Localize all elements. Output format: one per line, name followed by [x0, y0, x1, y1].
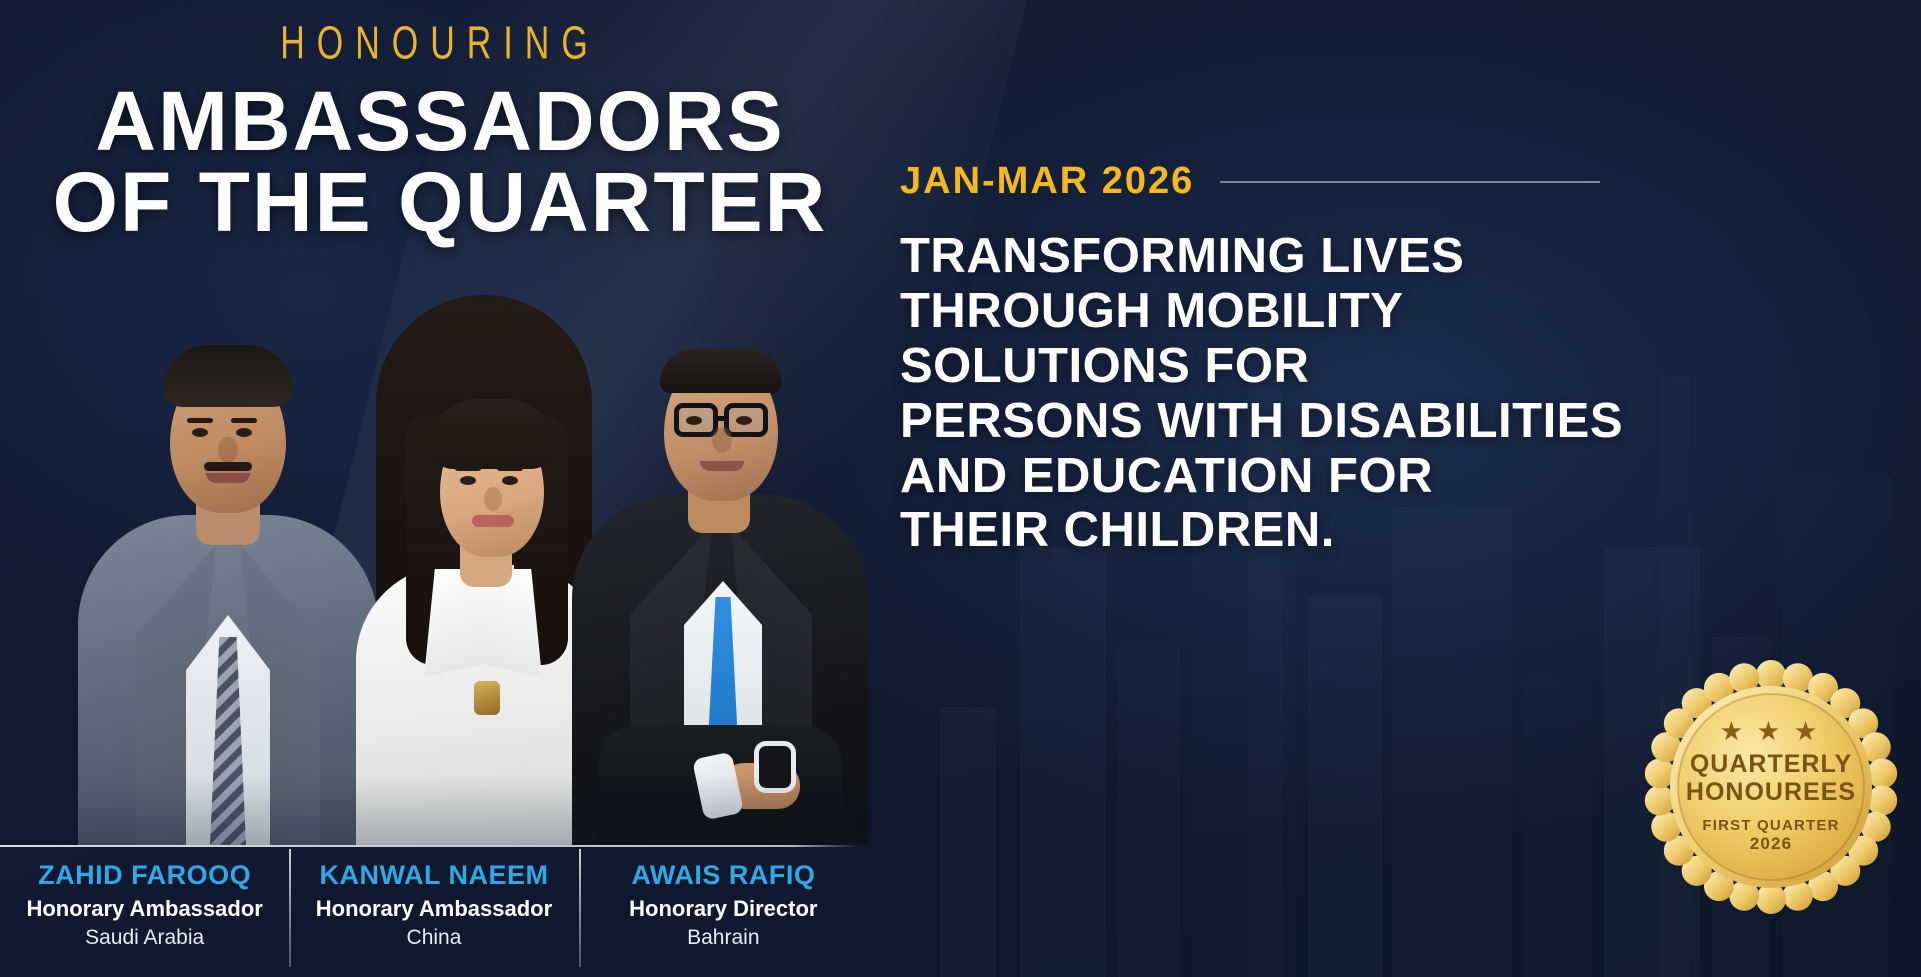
- headline-line-5: AND EDUCATION FOR: [900, 449, 1860, 504]
- honouree-country: China: [289, 924, 578, 951]
- honourees-name-strip: ZAHID FAROOQ Honorary Ambassador Saudi A…: [0, 845, 868, 977]
- title-line-1: AMBASSADORS: [0, 83, 880, 160]
- honouree-role: Honorary Ambassador: [0, 895, 289, 924]
- title-block: HONOURING AMBASSADORS OF THE QUARTER: [0, 18, 880, 242]
- honouree-card-1: ZAHID FAROOQ Honorary Ambassador Saudi A…: [0, 845, 289, 952]
- honouree-card-3: AWAIS RAFIQ Honorary Director Bahrain: [579, 845, 868, 952]
- page-title: AMBASSADORS OF THE QUARTER: [0, 83, 880, 242]
- honouree-role: Honorary Ambassador: [289, 895, 578, 924]
- headline-line-6: THEIR CHILDREN.: [900, 503, 1860, 558]
- headline-line-2: THROUGH MOBILITY: [900, 284, 1860, 339]
- quarterly-honourees-seal: ★ ★ ★ QUARTERLY HONOUREES FIRST QUARTER …: [1638, 654, 1904, 920]
- honouree-country: Bahrain: [579, 924, 868, 951]
- eyebrow-honouring: HONOURING: [0, 18, 880, 71]
- seal-text: ★ ★ ★ QUARTERLY HONOUREES FIRST QUARTER …: [1638, 654, 1904, 920]
- honourees-photo-group: [0, 218, 868, 845]
- period-row: JAN-MAR 2026: [900, 160, 1900, 203]
- headline-line-1: TRANSFORMING LIVES: [900, 229, 1860, 284]
- award-banner: HONOURING AMBASSADORS OF THE QUARTER: [0, 0, 1921, 977]
- period-label: JAN-MAR 2026: [900, 160, 1194, 203]
- seal-line-3: FIRST QUARTER: [1702, 817, 1839, 834]
- portrait-awais-rafiq: [572, 220, 868, 845]
- headline-line-4: PERSONS WITH DISABILITIES: [900, 394, 1860, 449]
- mission-headline: TRANSFORMING LIVES THROUGH MOBILITY SOLU…: [900, 229, 1860, 558]
- honouree-name: AWAIS RAFIQ: [579, 859, 868, 893]
- right-content: JAN-MAR 2026 TRANSFORMING LIVES THROUGH …: [900, 160, 1900, 558]
- seal-line-2: HONOUREES: [1686, 778, 1856, 806]
- honouree-name: ZAHID FAROOQ: [0, 859, 289, 893]
- seal-stars-icon: ★ ★ ★: [1721, 720, 1821, 743]
- honouree-name: KANWAL NAEEM: [289, 859, 578, 893]
- title-line-2: OF THE QUARTER: [0, 164, 880, 241]
- honouree-role: Honorary Director: [579, 895, 868, 924]
- seal-line-4: 2026: [1750, 834, 1793, 854]
- seal-line-1: QUARTERLY: [1690, 750, 1852, 778]
- honouree-country: Saudi Arabia: [0, 924, 289, 951]
- honouree-card-2: KANWAL NAEEM Honorary Ambassador China: [289, 845, 578, 952]
- headline-line-3: SOLUTIONS FOR: [900, 339, 1860, 394]
- period-divider: [1220, 181, 1600, 183]
